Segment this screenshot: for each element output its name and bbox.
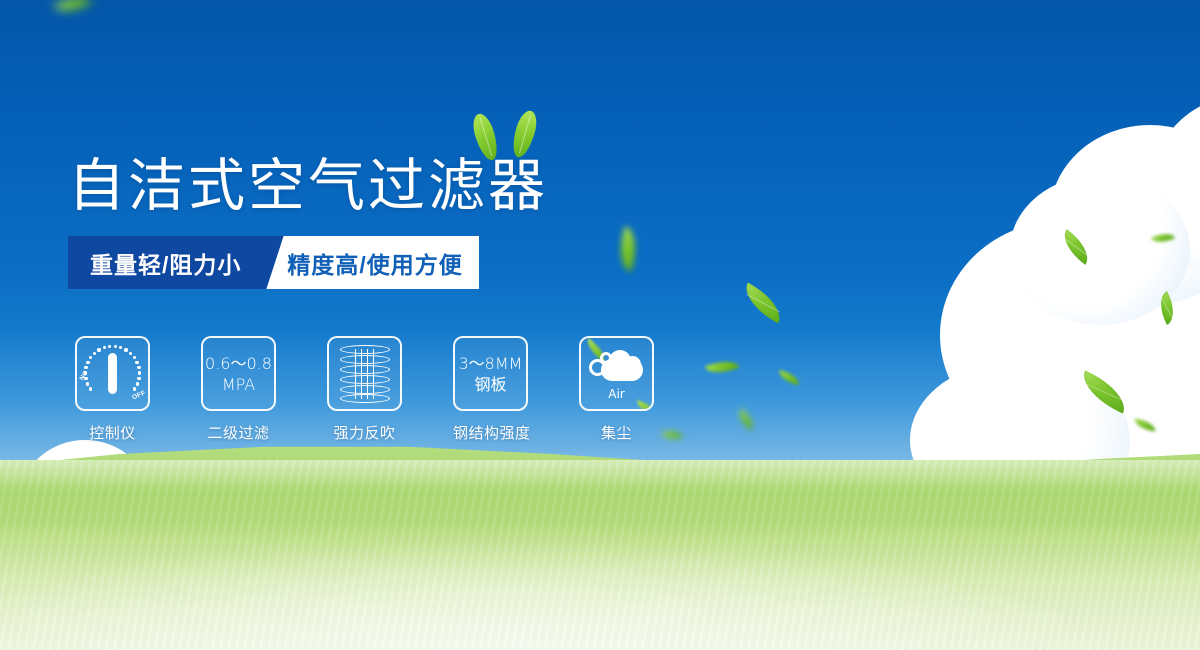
- air-leaf-icon: [634, 399, 654, 411]
- pressure-text-icon: 0.6～0.8 MPA: [205, 353, 272, 395]
- feature-icon-box[interactable]: NO OFF: [75, 336, 150, 411]
- gauge-tick-icon: [89, 356, 92, 359]
- gauge-tick-icon: [124, 348, 127, 351]
- gauge-tick-icon: [89, 387, 92, 390]
- gauge-tick-icon: [114, 345, 117, 348]
- gauge-tick-icon: [136, 382, 139, 385]
- air-cloud-icon: Air: [587, 346, 647, 402]
- subtitle-right-segment: 精度高/使用方便: [265, 236, 478, 289]
- floating-leaf-icon: [53, 0, 92, 20]
- floating-leaf-icon: [777, 370, 801, 385]
- gauge-tick-icon: [133, 387, 136, 390]
- gauge-tick-icon: [84, 366, 87, 369]
- feature-icon-box[interactable]: Air: [579, 336, 654, 411]
- gauge-needle-icon: [108, 353, 117, 394]
- gauge-tick-icon: [84, 377, 87, 380]
- page-title: 自洁式空气过滤器: [68, 140, 548, 222]
- feature-text-line1: 3～8MM: [459, 354, 523, 373]
- gauge-tick-icon: [137, 366, 140, 369]
- feature-item-two-stage-filter[interactable]: 0.6～0.8 MPA 二级过滤: [201, 336, 276, 443]
- cloud-right-upper: [1010, 95, 1200, 335]
- feature-label: 二级过滤: [201, 422, 276, 443]
- subtitle-right-text: 精度高/使用方便: [287, 246, 462, 280]
- feature-item-dust-collection[interactable]: Air 集尘: [579, 336, 654, 443]
- filter-cartridge-icon: [340, 345, 390, 403]
- gauge-tick-icon: [135, 361, 138, 364]
- grass-texture: [0, 460, 1200, 650]
- gauge-off-label: OFF: [131, 389, 147, 401]
- floating-leaf-icon: [705, 355, 740, 380]
- dust-particle-icon: [600, 352, 612, 364]
- gauge-tick-icon: [108, 345, 111, 348]
- gauge-tick-icon: [137, 377, 140, 380]
- air-label: Air: [587, 387, 647, 401]
- feature-text-line2: 钢板: [459, 374, 523, 395]
- gauge-tick-icon: [138, 371, 141, 374]
- gauge-tick-icon: [97, 348, 100, 351]
- gauge-tick-icon: [93, 352, 96, 355]
- subtitle-left-segment: 重量轻/阻力小: [68, 236, 261, 289]
- feature-label: 控制仪: [75, 422, 150, 443]
- feature-icon-box[interactable]: [327, 336, 402, 411]
- gauge-tick-icon: [103, 346, 106, 349]
- gauge-tick-icon: [86, 382, 89, 385]
- gauge-tick-icon: [86, 361, 89, 364]
- feature-list: NO OFF 控制仪 0.6～0.8 MPA 二级过滤: [75, 336, 654, 443]
- gauge-tick-icon: [119, 346, 122, 349]
- gauge-tick-icon: [133, 356, 136, 359]
- floating-leaf-icon: [612, 226, 644, 272]
- banner-root: 自洁式空气过滤器 重量轻/阻力小 精度高/使用方便 NO OFF 控制仪: [0, 0, 1200, 650]
- subtitle-bar: 重量轻/阻力小 精度高/使用方便: [68, 236, 462, 289]
- subtitle-left-text: 重量轻/阻力小: [90, 246, 241, 280]
- feature-text-line2: MPA: [205, 374, 272, 395]
- gauge-icon: NO OFF: [80, 343, 146, 405]
- floating-leaf-icon: [738, 282, 789, 323]
- feature-label: 强力反吹: [327, 422, 402, 443]
- feature-icon-box[interactable]: 0.6～0.8 MPA: [201, 336, 276, 411]
- gauge-tick-icon: [129, 352, 132, 355]
- feature-icon-box[interactable]: 3～8MM 钢板: [453, 336, 528, 411]
- feature-item-steel-strength[interactable]: 3～8MM 钢板 钢结构强度: [453, 336, 528, 443]
- gauge-tick-icon: [84, 371, 87, 374]
- feature-item-backblow[interactable]: 强力反吹: [327, 336, 402, 443]
- feature-text-line1: 0.6～0.8: [205, 354, 272, 373]
- feature-item-control-gauge[interactable]: NO OFF 控制仪: [75, 336, 150, 443]
- steel-plate-text-icon: 3～8MM 钢板: [459, 353, 523, 395]
- floating-leaf-icon: [734, 408, 758, 431]
- feature-label: 钢结构强度: [453, 422, 528, 443]
- floating-leaf-icon: [661, 428, 683, 443]
- feature-label: 集尘: [579, 422, 654, 443]
